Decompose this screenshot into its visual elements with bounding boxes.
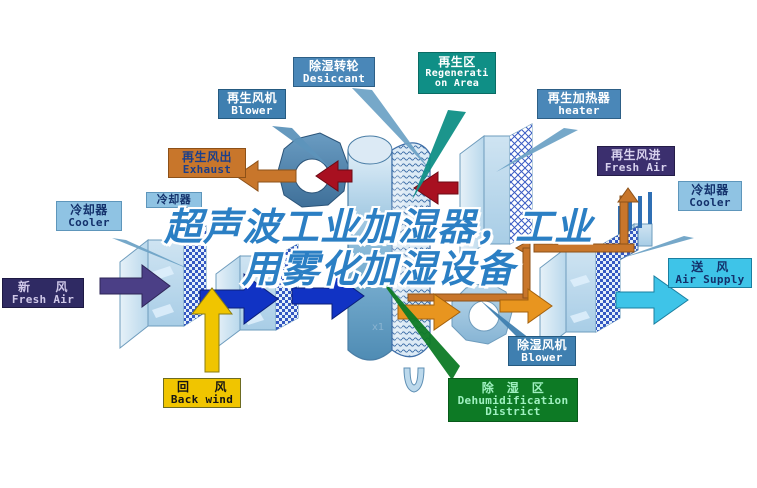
- label-regen-fresh-air-en: Fresh Air: [602, 162, 670, 174]
- diagram-canvas: x1: [0, 0, 757, 488]
- label-regeneration-area[interactable]: 再生区 Regenerati on Area: [418, 52, 496, 94]
- label-cooler-right-en: Cooler: [683, 197, 737, 209]
- label-back-wind-en: Back wind: [168, 394, 236, 406]
- label-fresh-air-cn: 新 风: [7, 281, 79, 294]
- label-cooler-right-cn: 冷却器: [683, 184, 737, 197]
- label-dehumidification-district[interactable]: 除 湿 区 Dehumidification District: [448, 378, 578, 422]
- label-air-supply-en: Air Supply: [673, 274, 747, 286]
- label-cooler-left-cn: 冷却器: [61, 204, 117, 217]
- label-regeneration-blower[interactable]: 再生风机 Blower: [218, 89, 286, 119]
- rotor-drain-chute: [404, 368, 424, 392]
- label-desiccant-rotor[interactable]: 除湿转轮 Desiccant: [293, 57, 375, 87]
- label-regen-blower-cn: 再生风机: [223, 92, 281, 105]
- label-air-supply[interactable]: 送 风 Air Supply: [668, 258, 752, 288]
- dehumidification-blower-unit: [452, 282, 512, 344]
- label-regen-blower-en: Blower: [223, 105, 281, 117]
- label-dehumid-area-cn: 除 湿 区: [453, 382, 573, 395]
- label-dehumid-blower-cn: 除湿风机: [513, 339, 571, 352]
- label-regeneration-fresh-air[interactable]: 再生风进 Fresh Air: [597, 146, 675, 176]
- label-cooler-left-en: Cooler: [61, 217, 117, 229]
- label-regeneration-heater[interactable]: 再生加热器 heater: [537, 89, 621, 119]
- label-regeneration-exhaust[interactable]: 再生风出 Exhaust: [168, 148, 246, 178]
- label-fresh-air[interactable]: 新 风 Fresh Air: [2, 278, 84, 308]
- label-cooler-center[interactable]: 冷却器: [146, 192, 202, 208]
- label-regen-fresh-air-cn: 再生风进: [602, 149, 670, 162]
- label-desiccant-rotor-cn: 除湿转轮: [298, 60, 370, 73]
- label-back-wind[interactable]: 回 风 Back wind: [163, 378, 241, 408]
- label-dehumid-area-en2: District: [453, 406, 573, 418]
- label-dehumidification-blower[interactable]: 除湿风机 Blower: [508, 336, 576, 366]
- label-cooler-left[interactable]: 冷却器 Cooler: [56, 201, 122, 231]
- regeneration-heater-unit: [460, 124, 532, 262]
- label-regen-area-cn: 再生区: [422, 56, 492, 69]
- schematic-graphics: x1: [0, 0, 757, 488]
- label-regen-area-en2: on Area: [422, 79, 492, 90]
- label-regen-heater-en: heater: [542, 105, 616, 117]
- label-regen-heater-cn: 再生加热器: [542, 92, 616, 105]
- label-dehumid-blower-en: Blower: [513, 352, 571, 364]
- label-back-wind-cn: 回 风: [168, 381, 236, 394]
- label-cooler-center-cn: 冷却器: [150, 194, 198, 206]
- label-fresh-air-en: Fresh Air: [7, 294, 79, 306]
- label-cooler-right[interactable]: 冷却器 Cooler: [678, 181, 742, 211]
- svg-text:x1: x1: [372, 322, 384, 333]
- label-regen-exhaust-en: Exhaust: [173, 164, 241, 176]
- label-desiccant-rotor-en: Desiccant: [298, 73, 370, 85]
- label-air-supply-cn: 送 风: [673, 261, 747, 274]
- desiccant-rotor-wheel: x1: [348, 136, 430, 392]
- label-regen-exhaust-cn: 再生风出: [173, 151, 241, 164]
